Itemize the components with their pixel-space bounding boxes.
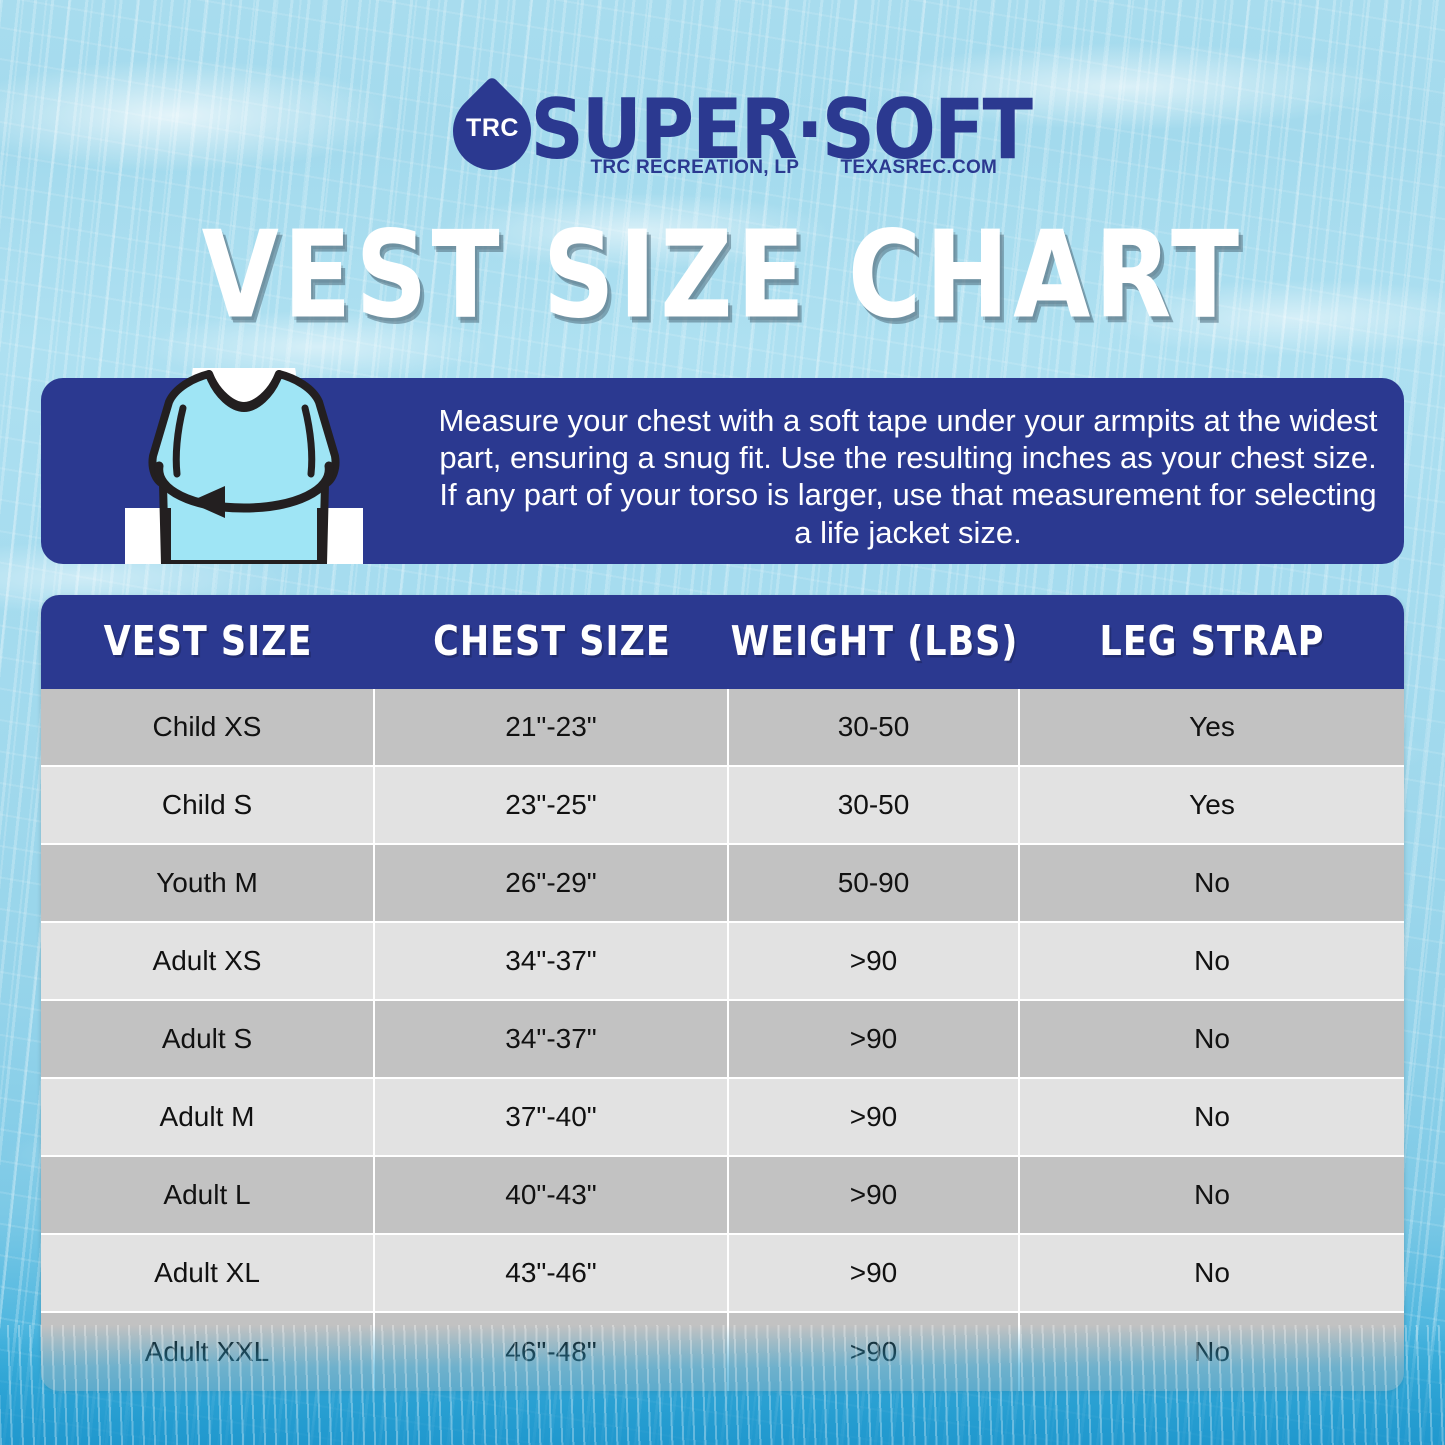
cell-leg-strap: No <box>1020 1157 1404 1235</box>
company-website: TEXASREC.COM <box>841 157 998 179</box>
cell-chest-size: 46"-48" <box>375 1313 729 1391</box>
cell-weight: >90 <box>729 923 1020 1001</box>
cell-weight: >90 <box>729 1001 1020 1079</box>
column-header-leg-strap: LEG STRAP <box>1020 618 1404 665</box>
cell-vest-size: Youth M <box>41 845 375 923</box>
instruction-text: Measure your chest with a soft tape unde… <box>436 402 1380 551</box>
cell-leg-strap: No <box>1020 845 1404 923</box>
cell-vest-size: Child S <box>41 767 375 845</box>
cell-weight: >90 <box>729 1157 1020 1235</box>
table-row: Adult XL43"-46">90No <box>41 1235 1404 1313</box>
cell-vest-size: Child XS <box>41 689 375 767</box>
table-row: Child XS21"-23"30-50Yes <box>41 689 1404 767</box>
cell-weight: >90 <box>729 1079 1020 1157</box>
cell-weight: 30-50 <box>729 767 1020 845</box>
column-header-weight: WEIGHT (LBS) <box>729 618 1020 665</box>
cell-leg-strap: No <box>1020 1313 1404 1391</box>
cell-chest-size: 26"-29" <box>375 845 729 923</box>
cell-leg-strap: No <box>1020 1001 1404 1079</box>
table-row: Adult XS34"-37">90No <box>41 923 1404 1001</box>
cell-chest-size: 34"-37" <box>375 923 729 1001</box>
cell-weight: >90 <box>729 1235 1020 1313</box>
table-row: Adult XXL46"-48">90No <box>41 1313 1404 1391</box>
table-row: Adult M37"-40">90No <box>41 1079 1404 1157</box>
cell-leg-strap: No <box>1020 1235 1404 1313</box>
cell-vest-size: Adult L <box>41 1157 375 1235</box>
cell-vest-size: Adult XS <box>41 923 375 1001</box>
cell-chest-size: 21"-23" <box>375 689 729 767</box>
table-header-row: VEST SIZE CHEST SIZE WEIGHT (LBS) LEG ST… <box>41 595 1404 689</box>
table-row: Adult L40"-43">90No <box>41 1157 1404 1235</box>
cell-vest-size: Adult XL <box>41 1235 375 1313</box>
cell-leg-strap: Yes <box>1020 767 1404 845</box>
cell-vest-size: Adult XXL <box>41 1313 375 1391</box>
table-row: Child S23"-25"30-50Yes <box>41 767 1404 845</box>
cell-leg-strap: Yes <box>1020 689 1404 767</box>
table-row: Adult S34"-37">90No <box>41 1001 1404 1079</box>
torso-measuring-illustration <box>97 368 391 564</box>
cell-chest-size: 40"-43" <box>375 1157 729 1235</box>
table-row: Youth M26"-29"50-90No <box>41 845 1404 923</box>
cell-leg-strap: No <box>1020 923 1404 1001</box>
cell-leg-strap: No <box>1020 1079 1404 1157</box>
cell-weight: >90 <box>729 1313 1020 1391</box>
page-title: VEST SIZE CHART <box>0 205 1445 345</box>
cell-vest-size: Adult M <box>41 1079 375 1157</box>
droplet-label: TRC <box>457 114 529 143</box>
column-header-vest-size: VEST SIZE <box>41 618 375 665</box>
cell-chest-size: 43"-46" <box>375 1235 729 1313</box>
column-header-chest-size: CHEST SIZE <box>375 618 729 665</box>
cell-vest-size: Adult S <box>41 1001 375 1079</box>
cell-weight: 50-90 <box>729 845 1020 923</box>
instruction-panel: Measure your chest with a soft tape unde… <box>41 378 1404 564</box>
cell-chest-size: 37"-40" <box>375 1079 729 1157</box>
cell-chest-size: 23"-25" <box>375 767 729 845</box>
company-name: TRC RECREATION, LP <box>591 157 800 179</box>
vest-size-chart-page: TRC SUPER·SOFT TRC RECREATION, LP TEXASR… <box>0 0 1445 1445</box>
cell-chest-size: 34"-37" <box>375 1001 729 1079</box>
size-table: VEST SIZE CHEST SIZE WEIGHT (LBS) LEG ST… <box>41 595 1404 1391</box>
cell-weight: 30-50 <box>729 689 1020 767</box>
brand-logo: TRC SUPER·SOFT TRC RECREATION, LP TEXASR… <box>0 86 1445 192</box>
table-body: Child XS21"-23"30-50YesChild S23"-25"30-… <box>41 689 1404 1391</box>
